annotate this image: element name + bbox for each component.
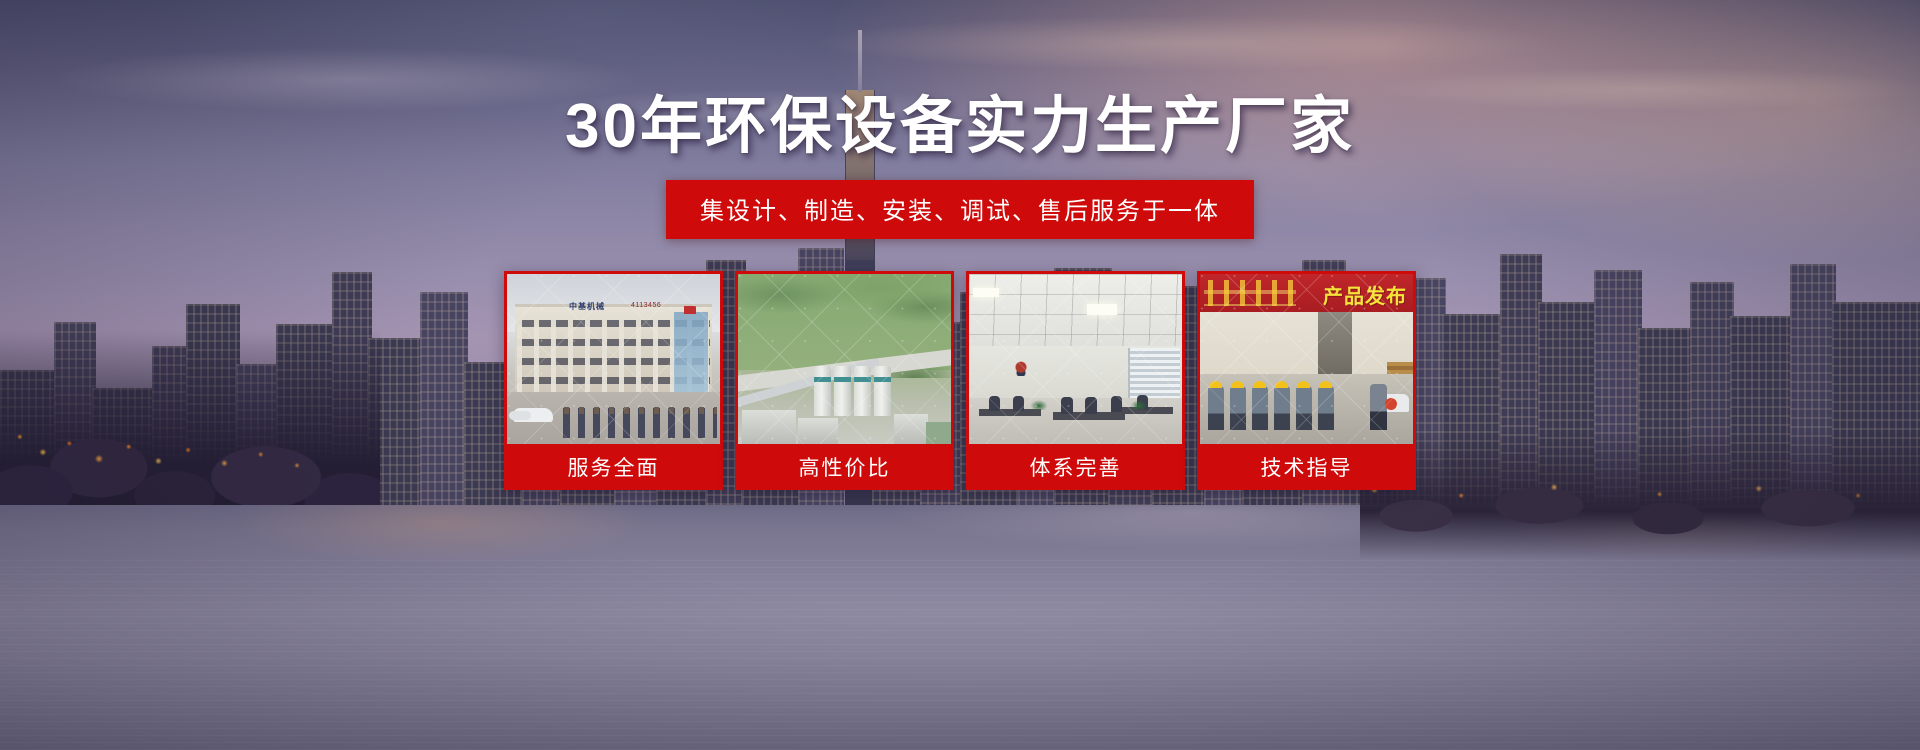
card-photo-service: 中基机械 4113456 [507,274,720,444]
card-caption: 体系完善 [969,444,1182,490]
card-caption: 技术指导 [1200,444,1413,490]
feature-card-list: 中基机械 4113456 服务全面 [504,271,1416,490]
hero-banner: 30年环保设备实力生产厂家 集设计、制造、安装、调试、售后服务于一体 中基机械 … [0,0,1920,750]
feature-card[interactable]: 体系完善 [966,271,1185,490]
building-sign-text: 中基机械 [569,301,605,312]
card-photo-plant [738,274,951,444]
hero-content: 30年环保设备实力生产厂家 集设计、制造、安装、调试、售后服务于一体 中基机械 … [0,0,1920,750]
page-title: 30年环保设备实力生产厂家 [565,96,1355,158]
card-caption: 高性价比 [738,444,951,490]
card-caption: 服务全面 [507,444,720,490]
card-photo-workshop: 产品发布 [1200,274,1413,444]
feature-card[interactable]: 高性价比 [735,271,954,490]
workshop-banner-text: 产品发布 [1323,280,1407,309]
feature-card[interactable]: 产品发布 [1197,271,1416,490]
subtitle-banner: 集设计、制造、安装、调试、售后服务于一体 [666,180,1254,239]
card-photo-office [969,274,1182,444]
building-phone-text: 4113456 [631,302,661,309]
feature-card[interactable]: 中基机械 4113456 服务全面 [504,271,723,490]
